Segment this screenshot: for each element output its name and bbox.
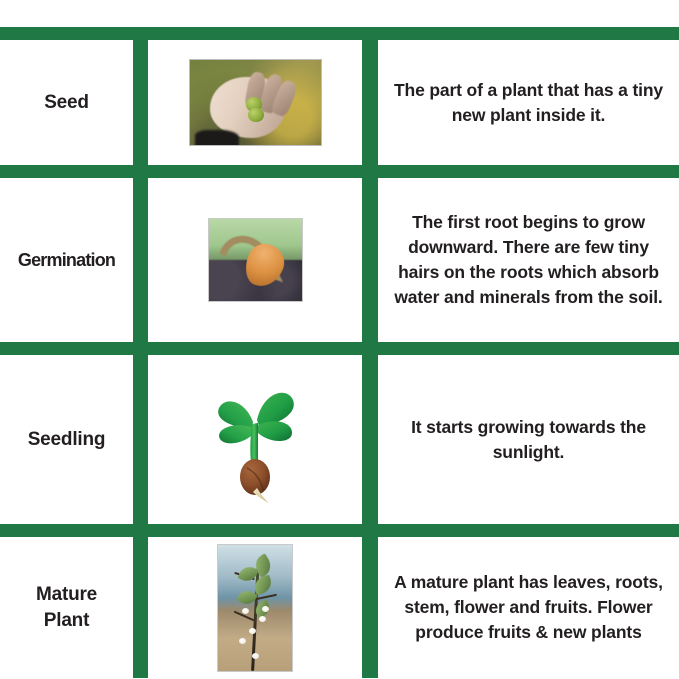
- seed-shape: [248, 108, 264, 122]
- border-segment: [0, 524, 133, 537]
- stage-label: Germination: [0, 248, 133, 272]
- row-divider: [0, 524, 679, 537]
- germinating-seed-photo: [208, 218, 303, 302]
- mature-plant-photo: [217, 544, 293, 672]
- border-segment: [378, 342, 679, 355]
- border-segment: [362, 27, 378, 40]
- border-segment: [133, 342, 148, 355]
- border-segment: [0, 342, 133, 355]
- vertical-divider: [362, 355, 378, 524]
- image-cell-seedling: [148, 355, 362, 524]
- image-cell-seed: [148, 40, 362, 165]
- flower-shape: [259, 616, 266, 622]
- vertical-divider: [362, 40, 378, 165]
- border-segment: [378, 165, 679, 178]
- table-row-mature-plant: Mature Plant: [0, 537, 679, 678]
- vertical-divider: [133, 178, 148, 342]
- stage-label: Mature Plant: [0, 582, 133, 633]
- border-segment: [148, 165, 362, 178]
- row-divider: [0, 342, 679, 355]
- border-segment: [133, 524, 148, 537]
- description-text: The first root begins to grow downward. …: [378, 210, 679, 309]
- table-row-seed: Seed The part of a plan: [0, 40, 679, 165]
- plant-life-cycle-table: Seed The part of a plan: [0, 27, 679, 678]
- border-segment: [362, 165, 378, 178]
- image-cell-germination: [148, 178, 362, 342]
- table-row-germination: Germination The first root begins to gro…: [0, 178, 679, 342]
- description-text: A mature plant has leaves, roots, stem, …: [378, 570, 679, 645]
- border-segment: [148, 27, 362, 40]
- description-cell-germination: The first root begins to grow downward. …: [378, 178, 679, 342]
- seedling-svg: [203, 376, 307, 504]
- description-cell-seedling: It starts growing towards the sunlight.: [378, 355, 679, 524]
- border-segment: [0, 27, 133, 40]
- table-row-seedling: Seedling: [0, 355, 679, 524]
- description-text: The part of a plant that has a tiny new …: [378, 78, 679, 128]
- flower-shape: [239, 638, 246, 644]
- row-divider: [0, 165, 679, 178]
- border-segment: [362, 342, 378, 355]
- page-root: Seed The part of a plan: [0, 0, 679, 679]
- image-cell-mature-plant: [148, 537, 362, 678]
- sleeve-shape: [195, 130, 240, 146]
- vertical-divider: [362, 178, 378, 342]
- border-segment: [148, 342, 362, 355]
- stage-cell-seedling: Seedling: [0, 355, 133, 524]
- border-segment: [378, 524, 679, 537]
- vertical-divider: [133, 355, 148, 524]
- table-top-border: [0, 27, 679, 40]
- vertical-divider: [133, 537, 148, 678]
- border-segment: [133, 165, 148, 178]
- flower-shape: [242, 608, 249, 614]
- border-segment: [362, 524, 378, 537]
- description-cell-mature-plant: A mature plant has leaves, roots, stem, …: [378, 537, 679, 678]
- flower-shape: [249, 628, 256, 634]
- vertical-divider: [362, 537, 378, 678]
- stage-label: Seedling: [0, 427, 133, 453]
- hand-holding-seeds-photo: [189, 59, 322, 146]
- description-text: It starts growing towards the sunlight.: [378, 415, 679, 465]
- border-segment: [148, 524, 362, 537]
- flower-shape: [252, 653, 259, 659]
- stage-cell-seed: Seed: [0, 40, 133, 165]
- border-segment: [133, 27, 148, 40]
- stage-label: Seed: [0, 90, 133, 116]
- stage-cell-mature-plant: Mature Plant: [0, 537, 133, 678]
- description-cell-seed: The part of a plant that has a tiny new …: [378, 40, 679, 165]
- stage-cell-germination: Germination: [0, 178, 133, 342]
- seedling-illustration: [203, 376, 307, 504]
- border-segment: [0, 165, 133, 178]
- vertical-divider: [133, 40, 148, 165]
- border-segment: [378, 27, 679, 40]
